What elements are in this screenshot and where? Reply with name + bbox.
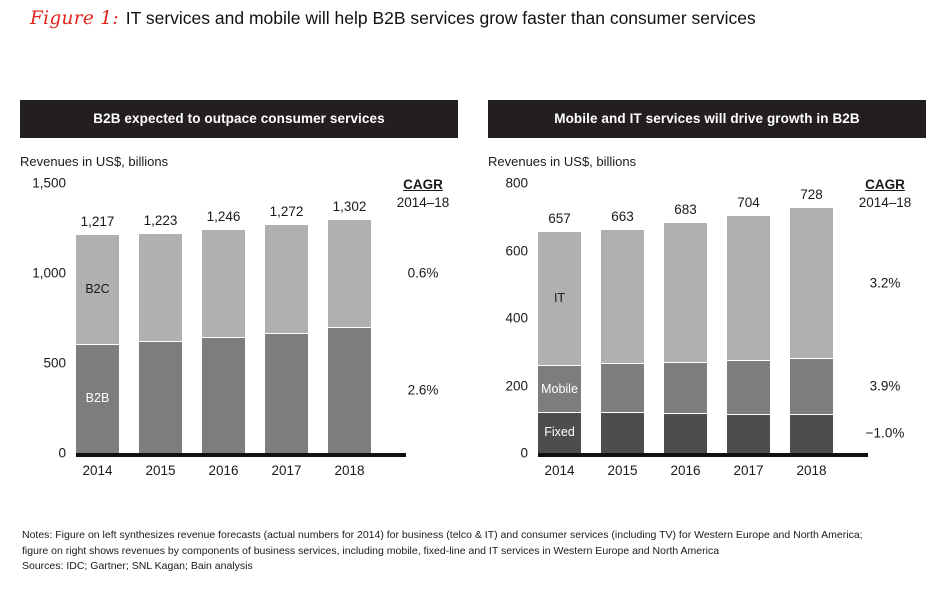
- x-axis-tick-2016: 2016: [202, 463, 245, 478]
- x-axis-tick-2017: 2017: [265, 463, 308, 478]
- bar-segment-mobile-2015[interactable]: [601, 363, 644, 413]
- bar-2016[interactable]: [664, 222, 707, 453]
- bar-segment-fixed-2016[interactable]: [664, 413, 707, 453]
- bar-segment-b2b-2015[interactable]: [139, 341, 182, 453]
- cagr-header: CAGR: [392, 177, 454, 192]
- x-axis-tick-2015: 2015: [139, 463, 182, 478]
- bar-segment-b2c-2015[interactable]: [139, 233, 182, 341]
- bar-2014[interactable]: B2BB2C: [76, 234, 119, 453]
- panel-header-left: B2B expected to outpace consumer service…: [20, 100, 458, 138]
- y-axis-tick-400: 400: [488, 311, 528, 326]
- bar-segment-it-2016[interactable]: [664, 222, 707, 361]
- bar-segment-fixed-2018[interactable]: [790, 414, 833, 453]
- x-axis-tick-2017: 2017: [727, 463, 770, 478]
- bar-segment-it-2014[interactable]: [538, 231, 581, 365]
- bar-2016[interactable]: [202, 229, 245, 453]
- bar-2014[interactable]: FixedMobileIT: [538, 231, 581, 453]
- bar-2018[interactable]: [790, 207, 833, 453]
- bar-total-2018: 1,302: [328, 199, 371, 214]
- bar-segment-fixed-2015[interactable]: [601, 412, 644, 453]
- figure-title-text: IT services and mobile will help B2B ser…: [126, 8, 756, 28]
- bar-segment-it-2017[interactable]: [727, 215, 770, 359]
- y-axis-tick-800: 800: [488, 176, 528, 191]
- y-axis-tick-200: 200: [488, 378, 528, 393]
- bar-total-2018: 728: [790, 187, 833, 202]
- bar-segment-mobile-2018[interactable]: [790, 358, 833, 414]
- bar-2015[interactable]: [139, 233, 182, 453]
- cagr-header: CAGR: [854, 177, 916, 192]
- bar-total-2016: 683: [664, 202, 707, 217]
- x-axis-tick-2014: 2014: [538, 463, 581, 478]
- bar-segment-it-2015[interactable]: [601, 229, 644, 363]
- cagr-years: 2014–18: [854, 195, 916, 210]
- bar-segment-b2c-2016[interactable]: [202, 229, 245, 337]
- cagr-value-it: 3.2%: [854, 275, 916, 290]
- bar-2017[interactable]: [727, 215, 770, 453]
- x-axis-line: [538, 453, 868, 457]
- footnotes: Notes: Figure on left synthesizes revenu…: [22, 528, 932, 575]
- footnote-line-1: Notes: Figure on left synthesizes revenu…: [22, 528, 932, 544]
- y-axis-tick-1000: 1,000: [20, 266, 66, 281]
- x-axis-tick-2015: 2015: [601, 463, 644, 478]
- chart-panel-right: Mobile and IT services will drive growth…: [488, 100, 926, 493]
- x-axis-tick-2018: 2018: [328, 463, 371, 478]
- panel-header-right: Mobile and IT services will drive growth…: [488, 100, 926, 138]
- x-axis-tick-2018: 2018: [790, 463, 833, 478]
- bar-segment-fixed-2014[interactable]: [538, 412, 581, 453]
- plot-area-right: 0200400600800FixedMobileIT65720146632015…: [488, 183, 926, 493]
- cagr-years: 2014–18: [392, 195, 454, 210]
- cagr-value-fixed: −1.0%: [854, 426, 916, 441]
- bar-2015[interactable]: [601, 229, 644, 453]
- bar-segment-it-2018[interactable]: [790, 207, 833, 358]
- x-axis-tick-2014: 2014: [76, 463, 119, 478]
- footnote-line-3: Sources: IDC; Gartner; SNL Kagan; Bain a…: [22, 559, 932, 575]
- cagr-value-b2c: 0.6%: [392, 265, 454, 280]
- bar-2017[interactable]: [265, 224, 308, 453]
- y-axis-tick-0: 0: [488, 446, 528, 461]
- bar-total-2014: 1,217: [76, 214, 119, 229]
- bar-segment-b2b-2016[interactable]: [202, 337, 245, 453]
- bar-total-2014: 657: [538, 211, 581, 226]
- bar-total-2017: 1,272: [265, 204, 308, 219]
- bar-total-2017: 704: [727, 195, 770, 210]
- bar-total-2015: 663: [601, 209, 644, 224]
- bar-total-2016: 1,246: [202, 209, 245, 224]
- bar-total-2015: 1,223: [139, 213, 182, 228]
- y-axis-tick-600: 600: [488, 243, 528, 258]
- x-axis-line: [76, 453, 406, 457]
- bar-segment-mobile-2016[interactable]: [664, 362, 707, 413]
- y-axis-tick-1500: 1,500: [20, 176, 66, 191]
- axis-caption-left: Revenues in US$, billions: [20, 154, 458, 169]
- bar-segment-b2c-2018[interactable]: [328, 219, 371, 327]
- y-axis-tick-0: 0: [20, 446, 66, 461]
- bar-segment-b2c-2017[interactable]: [265, 224, 308, 333]
- bar-segment-b2b-2018[interactable]: [328, 327, 371, 453]
- bar-segment-fixed-2017[interactable]: [727, 414, 770, 453]
- chart-panel-left: B2B expected to outpace consumer service…: [20, 100, 458, 493]
- cagr-value-mobile: 3.9%: [854, 378, 916, 393]
- figure-number: Figure 1:: [30, 8, 121, 29]
- bar-segment-mobile-2014[interactable]: [538, 365, 581, 412]
- bar-segment-b2b-2017[interactable]: [265, 333, 308, 453]
- cagr-value-b2b: 2.6%: [392, 383, 454, 398]
- bar-2018[interactable]: [328, 219, 371, 453]
- plot-area-left: 05001,0001,500B2BB2C1,21720141,22320151,…: [20, 183, 458, 493]
- bar-segment-b2b-2014[interactable]: [76, 344, 119, 453]
- page-title: Figure 1: IT services and mobile will he…: [30, 8, 930, 29]
- axis-caption-right: Revenues in US$, billions: [488, 154, 926, 169]
- y-axis-tick-500: 500: [20, 356, 66, 371]
- bar-segment-mobile-2017[interactable]: [727, 360, 770, 414]
- bar-segment-b2c-2014[interactable]: [76, 234, 119, 344]
- footnote-line-2: figure on right shows revenues by compon…: [22, 544, 932, 560]
- x-axis-tick-2016: 2016: [664, 463, 707, 478]
